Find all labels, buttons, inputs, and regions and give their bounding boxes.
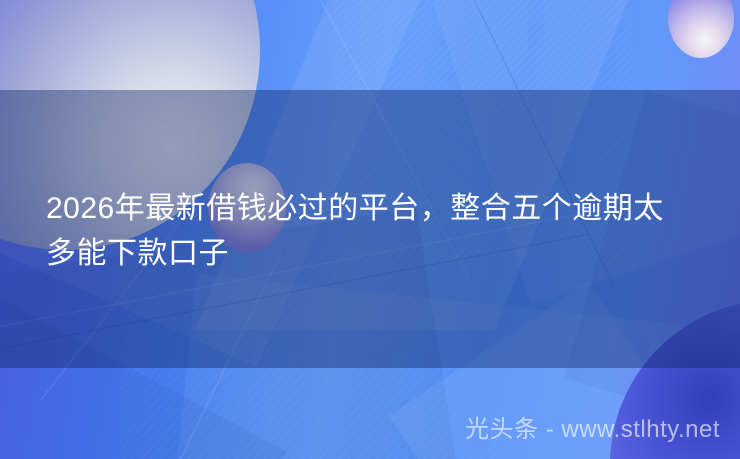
site-watermark: 光头条 - www.stlhty.net (465, 415, 720, 445)
promo-banner: 2026年最新借钱必过的平台，整合五个逾期太多能下款口子 光头条 - www.s… (0, 0, 740, 459)
banner-headline: 2026年最新借钱必过的平台，整合五个逾期太多能下款口子 (0, 186, 740, 276)
sphere-small-top-right (668, 0, 734, 58)
